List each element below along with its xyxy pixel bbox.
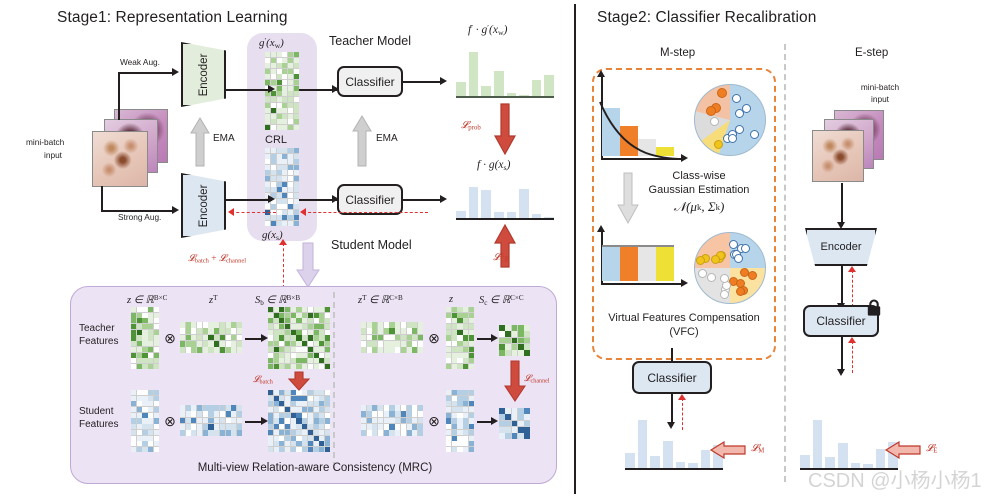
feature-cell [277,176,282,181]
feature-cell [154,441,159,446]
feature-cell [308,353,313,358]
feature-cell [452,396,457,401]
histogram-bar [532,80,542,96]
m-step-classifier[interactable]: Classifier [632,361,712,394]
feature-cell [524,427,530,433]
feature-cell [288,74,293,79]
loss-channel-label: 𝓛channel [524,373,550,385]
feature-cell [294,159,299,164]
feature-cell [279,318,284,323]
feature-cell [220,347,225,353]
feature-cell [401,405,406,411]
feature-cell [288,58,293,63]
feature-cell [401,328,406,334]
feature-cell [279,335,284,340]
feature-cell [203,322,208,328]
feature-cell [452,424,457,429]
feature-cell [154,353,159,358]
feature-dot [732,94,741,103]
feature-cell [452,364,457,369]
student-model-label: Student Model [331,238,412,252]
feature-cell [271,125,276,130]
gradient-feedback-arrowhead-2 [228,208,234,216]
feature-cell [237,418,242,424]
student-probability-histogram [456,178,554,220]
feature-cell [302,347,307,352]
feature-cell [302,418,307,423]
feature-cell [469,401,474,406]
feature-cell [314,347,319,352]
feature-cell [285,436,290,441]
histogram-bar [532,214,542,218]
feature-cell [457,424,462,429]
feature-cell [268,436,273,441]
feature-cell [361,347,366,353]
feature-cell [274,413,279,418]
feature-cell [296,353,301,358]
feature-cell [137,436,142,441]
feature-cell [277,215,282,220]
feature-cell [302,335,307,340]
teacher-enc-to-crl-line [226,89,272,91]
feature-cell [524,344,530,350]
feature-cell [282,187,287,192]
feature-cell [208,430,213,436]
feature-cell [446,358,451,363]
feature-cell [131,418,136,423]
feature-cell [294,165,299,170]
feature-cell [282,97,287,102]
teacher-classifier[interactable]: Classifier [337,66,403,97]
feature-cell [512,350,518,356]
feature-cell [469,447,474,452]
feature-cell [319,335,324,340]
balanced-class-pie [694,232,766,304]
feature-cell [265,114,270,119]
feature-cell [154,418,159,423]
feature-cell [372,328,377,334]
feature-cell [282,58,287,63]
feature-cell [319,430,324,435]
stage2-inner-divider [784,44,786,482]
feature-cell [452,430,457,435]
feature-cell [372,405,377,411]
gradient-feedback-line-1 [303,212,428,213]
feature-cell [372,418,377,424]
feature-cell [291,353,296,358]
feature-cell [389,328,394,334]
feature-cell [302,313,307,318]
student-encoder-label: Encoder [198,184,210,227]
student-classifier-label: Classifier [345,193,394,207]
m-step-output-histogram [625,420,723,470]
feature-cell [220,322,225,328]
feature-cell [291,358,296,363]
feature-cell [505,325,511,331]
histogram-bar [469,187,479,218]
feature-cell [418,430,423,436]
feature-cell [452,313,457,318]
feature-cell [237,341,242,347]
feature-cell [463,390,468,395]
e-step-label: E-step [855,47,888,59]
histogram-bar [663,441,673,468]
feature-cell [180,328,185,334]
feature-cell [279,441,284,446]
feature-cell [291,364,296,369]
feature-cell [282,63,287,68]
feature-cell [277,199,282,204]
student-encoder[interactable]: Encoder [181,173,226,238]
feature-cell [452,353,457,358]
feature-cell [294,52,299,57]
feature-cell [237,347,242,353]
feature-cell [282,199,287,204]
feature-cell [191,411,196,417]
feature-cell [142,424,147,429]
feature-cell [137,307,142,312]
feature-cell [314,353,319,358]
histogram-bar [701,450,711,468]
feature-cell [137,441,142,446]
feature-cell [469,335,474,340]
gaussian-caption-line2: Gaussian Estimation [634,184,764,198]
feature-cell [271,119,276,124]
feature-cell [291,424,296,429]
feature-cell [518,350,524,356]
student-classifier[interactable]: Classifier [337,184,403,215]
feature-cell [457,441,462,446]
mrc-inner-divider [333,292,335,468]
feature-cell [282,176,287,181]
feature-cell [271,221,276,226]
feature-cell [294,80,299,85]
teacher-model-label: Teacher Model [329,34,411,48]
feature-cell [131,358,136,363]
feature-cell [302,441,307,446]
feature-cell [208,322,213,328]
feature-cell [274,396,279,401]
feature-cell [148,318,153,323]
feature-cell [291,436,296,441]
feature-cell [154,430,159,435]
feature-cell [231,341,236,347]
feature-cell [395,424,400,430]
mrc-right-student-arrowhead [491,417,498,425]
feature-cell [220,418,225,424]
feature-cell [319,447,324,452]
feature-cell [518,338,524,344]
feature-cell [271,215,276,220]
feature-cell [277,165,282,170]
feature-cell [325,324,330,329]
feature-cell [131,441,136,446]
student-enc-to-crl-line [226,199,272,201]
feature-cell [314,407,319,412]
feature-cell [294,204,299,209]
feature-cell [395,322,400,328]
feature-cell [203,418,208,424]
e-step-encoder[interactable]: Encoder [805,228,877,266]
feature-cell [197,411,202,417]
feature-cell [325,318,330,323]
feature-cell [131,407,136,412]
feature-cell [268,335,273,340]
feature-cell [325,390,330,395]
feature-cell [274,447,279,452]
feature-cell [282,86,287,91]
gaussian-formula: 𝒩(μk, Σk) [634,199,764,215]
feature-cell [154,447,159,452]
feature-cell [186,341,191,347]
feature-cell [288,154,293,159]
histogram-bar [650,456,660,468]
feature-cell [271,97,276,102]
feature-cell [180,424,185,430]
feature-cell [308,407,313,412]
feature-cell [274,436,279,441]
feature-cell [296,318,301,323]
feature-cell [452,307,457,312]
feature-cell [291,324,296,329]
feature-cell [208,405,213,411]
feature-cell [237,405,242,411]
feature-cell [291,335,296,340]
feature-dot [710,117,719,126]
feature-cell [401,411,406,417]
feature-cell [285,401,290,406]
feature-cell [291,313,296,318]
feature-cell [186,430,191,436]
teacher-feature-label: g′(xw) [259,36,284,50]
loss-prob-label: 𝓛prob [461,120,481,132]
feature-cell [296,330,301,335]
feature-cell [226,418,231,424]
mrc-left-header-zt: zT [209,294,217,306]
loss-prob-arrow [494,103,516,155]
feature-cell [197,328,202,334]
feature-cell [294,114,299,119]
feature-cell [395,328,400,334]
watermark: CSDN @小杨小杨1 [808,464,982,493]
feature-cell [271,159,276,164]
histogram-bar [638,420,648,468]
feature-cell [279,358,284,363]
feature-cell [446,307,451,312]
feature-cell [277,159,282,164]
feature-cell [148,353,153,358]
feature-cell [505,421,511,427]
feature-cell [265,52,270,57]
feature-cell [186,418,191,424]
teacher-encoder[interactable]: Encoder [181,42,226,107]
feature-cell [142,390,147,395]
vfc-caption-line2: (VFC) [594,326,774,340]
feature-cell [518,408,524,414]
feature-cell [148,401,153,406]
feature-cell [288,210,293,215]
feature-cell [271,108,276,113]
feature-cell [265,221,270,226]
feature-cell [291,318,296,323]
feature-cell [325,313,330,318]
feature-cell [279,401,284,406]
teacher-classifier-output-line [403,81,443,83]
feature-cell [469,353,474,358]
feature-cell [319,313,324,318]
feature-cell [137,401,142,406]
feature-cell [154,358,159,363]
feature-cell [384,430,389,436]
feature-cell [446,424,451,429]
feature-cell [446,324,451,329]
feature-cell [302,430,307,435]
feature-cell [131,436,136,441]
feature-cell [463,364,468,369]
feature-cell [296,358,301,363]
strong-aug-arrowhead [172,206,179,214]
feature-cell [180,341,185,347]
feature-cell [294,210,299,215]
feature-cell [452,335,457,340]
feature-cell [279,307,284,312]
feature-cell [148,341,153,346]
feature-cell [302,396,307,401]
teacher-prob-label: f′ · g′(xw) [468,23,507,37]
feature-cell [148,413,153,418]
feature-cell [148,441,153,446]
feature-cell [274,330,279,335]
feature-cell [325,441,330,446]
balanced-axis-y-arrowhead [597,225,605,232]
loss-batch-channel-label: 𝓛batch + 𝓛channel [188,253,246,265]
feature-cell [325,307,330,312]
feature-cell [268,364,273,369]
feature-cell [452,347,457,352]
feature-cell [499,427,505,433]
feature-cell [452,358,457,363]
feature-cell [325,364,330,369]
feature-cell [302,353,307,358]
feature-cell [367,430,372,436]
feature-cell [268,441,273,446]
feature-cell [137,447,142,452]
crl-to-mrc-arrow [296,242,320,288]
histogram-bar [519,95,529,96]
feature-cell [277,63,282,68]
feature-cell [314,418,319,423]
mrc-left-header-sb: Sb ∈ ℝB×B [255,294,300,307]
feature-dot [734,254,743,263]
mrc-student-left-operator: ⊗ [163,414,177,428]
feature-cell [285,407,290,412]
feature-cell [282,125,287,130]
feature-cell [308,335,313,340]
feature-cell [314,307,319,312]
feature-cell [271,148,276,153]
feature-cell [214,328,219,334]
e-step-gradient-line-lower [852,341,853,373]
feature-cell [288,187,293,192]
feature-cell [457,353,462,358]
feature-cell [446,364,451,369]
feature-cell [367,424,372,430]
mrc-student-z-grid [131,390,159,452]
histogram-bar [620,245,638,281]
feature-cell [137,335,142,340]
feature-cell [271,165,276,170]
feature-cell [319,341,324,346]
feature-cell [457,318,462,323]
feature-cell [137,347,142,352]
feature-cell [131,318,136,323]
feature-cell [265,215,270,220]
feature-cell [389,335,394,341]
teacher-classifier-output-arrowhead [440,77,447,85]
feature-cell [418,424,423,430]
feature-cell [279,447,284,452]
feature-cell [314,401,319,406]
feature-cell [291,401,296,406]
feature-cell [452,330,457,335]
feature-cell [308,436,313,441]
feature-cell [308,324,313,329]
mrc-student-sb-grid [268,390,330,452]
gradient-feedback-line-2 [231,212,276,213]
feature-cell [296,407,301,412]
feature-cell [446,447,451,452]
feature-cell [131,447,136,452]
feature-cell [282,108,287,113]
feature-cell [389,411,394,417]
feature-cell [469,441,474,446]
feature-cell [277,187,282,192]
feature-cell [142,413,147,418]
feature-cell [452,407,457,412]
feature-cell [294,74,299,79]
feature-cell [197,322,202,328]
feature-cell [314,430,319,435]
feature-cell [512,408,518,414]
m-step-classifier-label: Classifier [647,371,696,385]
feature-cell [142,430,147,435]
feature-cell [308,413,313,418]
feature-cell [395,405,400,411]
feature-cell [274,341,279,346]
balanced-class-distribution [602,245,674,283]
feature-cell [308,341,313,346]
feature-cell [325,413,330,418]
feature-cell [197,347,202,353]
feature-cell [277,69,282,74]
feature-cell [361,335,366,341]
feature-cell [457,390,462,395]
feature-cell [265,182,270,187]
feature-cell [463,430,468,435]
histogram-bar [519,189,529,218]
feature-cell [524,325,530,331]
feature-cell [367,411,372,417]
feature-cell [285,413,290,418]
feature-cell [282,215,287,220]
feature-cell [214,418,219,424]
feature-cell [296,436,301,441]
mrc-right-header-z: z [449,294,453,305]
feature-cell [384,411,389,417]
feature-cell [271,69,276,74]
feature-cell [395,341,400,347]
mrc-right-teacher-arrowhead [491,334,498,342]
